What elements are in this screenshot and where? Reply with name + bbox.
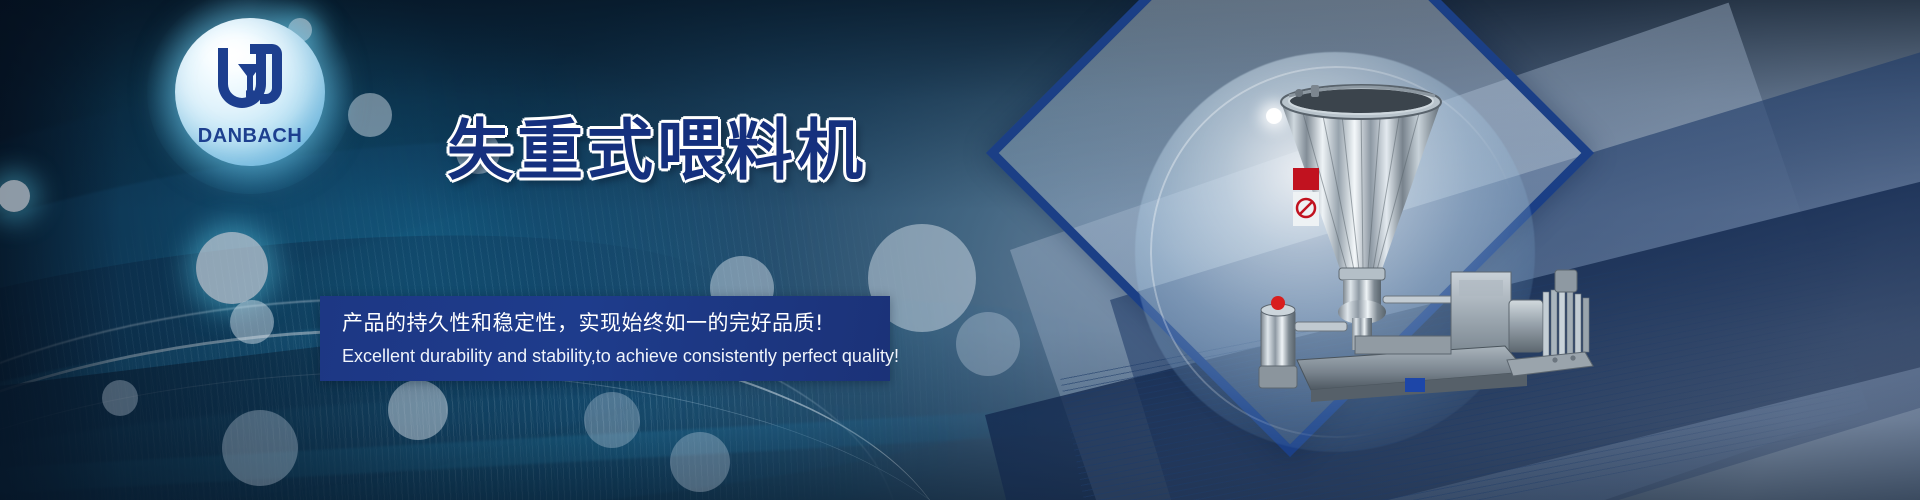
base-extension bbox=[1507, 352, 1593, 376]
control-box-panel bbox=[1459, 280, 1503, 296]
clamp-latch bbox=[1311, 85, 1319, 97]
feeder-illustration bbox=[1255, 60, 1615, 405]
motor-coupling bbox=[1509, 300, 1543, 352]
product-banner: DANBACH 失重式喂料机 产品的持久性和稳定性，实现始终如一的完好品质! E… bbox=[0, 0, 1920, 500]
danbach-monogram-icon bbox=[204, 38, 296, 116]
loss-in-weight-feeder-image bbox=[1255, 60, 1615, 405]
page-title: 失重式喂料机 bbox=[447, 118, 867, 184]
base-bolt-1 bbox=[1552, 357, 1557, 362]
tagline-chinese: 产品的持久性和稳定性，实现始终如一的完好品质! bbox=[342, 309, 890, 337]
gear-motor bbox=[1509, 270, 1589, 362]
brand-name: DANBACH bbox=[198, 125, 303, 148]
tagline-box: 产品的持久性和稳定性，实现始终如一的完好品质! Excellent durabi… bbox=[320, 296, 890, 381]
motor-fins bbox=[1543, 288, 1589, 362]
warning-label-red bbox=[1293, 168, 1319, 190]
bokeh-circle bbox=[348, 93, 392, 137]
brand-logo[interactable]: DANBACH bbox=[175, 18, 325, 166]
base-bolt-2 bbox=[1570, 355, 1575, 360]
base-rail bbox=[1355, 336, 1451, 354]
clamp-bolt bbox=[1295, 89, 1303, 97]
blue-marker-block bbox=[1405, 378, 1425, 392]
cross-tube bbox=[1295, 322, 1347, 331]
left-cylinder bbox=[1261, 310, 1295, 368]
motor-terminal-box bbox=[1555, 270, 1577, 292]
cylinder-foot bbox=[1259, 366, 1297, 388]
red-indicator-light bbox=[1271, 296, 1285, 310]
discharge-flange bbox=[1339, 268, 1385, 280]
tagline-english: Excellent durability and stability,to ac… bbox=[342, 342, 890, 370]
